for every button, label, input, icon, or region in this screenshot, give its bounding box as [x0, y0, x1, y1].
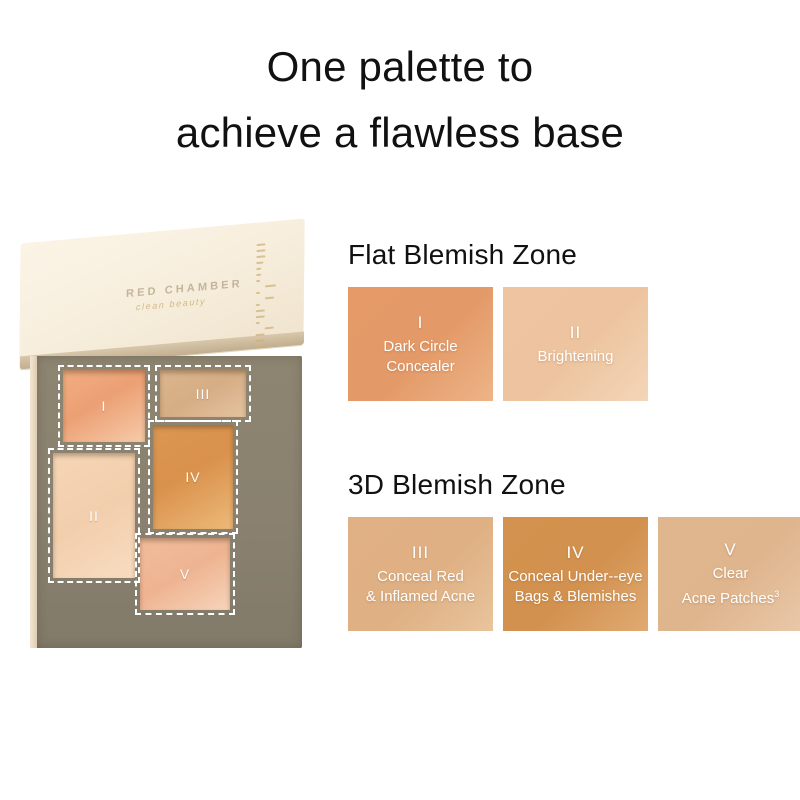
swatch-4[interactable]: IV Conceal Under--eye Bags & Blemishes: [503, 517, 648, 631]
swatch-1-line-2: Concealer: [386, 357, 454, 377]
swatch-4-line-2: Bags & Blemishes: [515, 587, 637, 607]
palette-pan-4-numeral: IV: [153, 469, 233, 485]
palette-pan-5-numeral: V: [140, 566, 230, 582]
zone-flat-blemish-swatches: I Dark Circle Concealer II Brightening: [348, 287, 648, 401]
product-palette-image: RED CHAMBER clean beauty I II III IV V: [8, 225, 328, 665]
palette-pan-3-numeral: III: [160, 386, 246, 402]
palette-pan-4: IV: [153, 425, 233, 529]
swatch-3-numeral: III: [412, 542, 429, 563]
swatch-4-line-1: Conceal Under--eye: [508, 567, 642, 587]
zone-3d-blemish-title: 3D Blemish Zone: [348, 468, 800, 502]
headline-line-1: One palette to: [0, 34, 800, 100]
swatch-5-line-2-text: Acne Patches: [682, 590, 775, 607]
palette-base-left-edge: [30, 356, 37, 648]
swatch-3[interactable]: III Conceal Red & Inflamed Acne: [348, 517, 493, 631]
palette-pan-1-numeral: I: [63, 398, 145, 414]
swatch-5-line-1: Clear: [713, 564, 749, 584]
swatch-5-superscript: 3: [774, 589, 779, 599]
swatch-1[interactable]: I Dark Circle Concealer: [348, 287, 493, 401]
zone-flat-blemish-title: Flat Blemish Zone: [348, 238, 648, 272]
swatch-5-numeral: V: [724, 539, 736, 560]
zone-flat-blemish: Flat Blemish Zone I Dark Circle Conceale…: [348, 238, 648, 401]
zone-3d-blemish: 3D Blemish Zone III Conceal Red & Inflam…: [348, 468, 800, 631]
swatch-3-line-2: & Inflamed Acne: [366, 587, 475, 607]
zone-3d-blemish-swatches: III Conceal Red & Inflamed Acne IV Conce…: [348, 517, 800, 631]
swatch-2-numeral: II: [570, 322, 581, 343]
swatch-4-numeral: IV: [566, 542, 584, 563]
swatch-2[interactable]: II Brightening: [503, 287, 648, 401]
swatch-5[interactable]: V Clear Acne Patches3: [658, 517, 800, 631]
lid-dash-decoration: [255, 242, 282, 344]
swatch-1-line-1: Dark Circle: [383, 337, 457, 357]
palette-pan-5: V: [140, 538, 230, 610]
palette-pan-1: I: [63, 370, 145, 442]
palette-pan-2: II: [53, 453, 135, 578]
palette-pan-3: III: [160, 370, 246, 417]
swatch-5-line-2: Acne Patches3: [682, 584, 780, 609]
page-headline: One palette to achieve a flawless base: [0, 34, 800, 166]
swatch-3-line-1: Conceal Red: [377, 567, 464, 587]
swatch-2-line-1: Brightening: [538, 347, 614, 367]
swatch-1-numeral: I: [418, 312, 424, 333]
headline-line-2: achieve a flawless base: [0, 100, 800, 166]
palette-pan-2-numeral: II: [53, 508, 135, 524]
